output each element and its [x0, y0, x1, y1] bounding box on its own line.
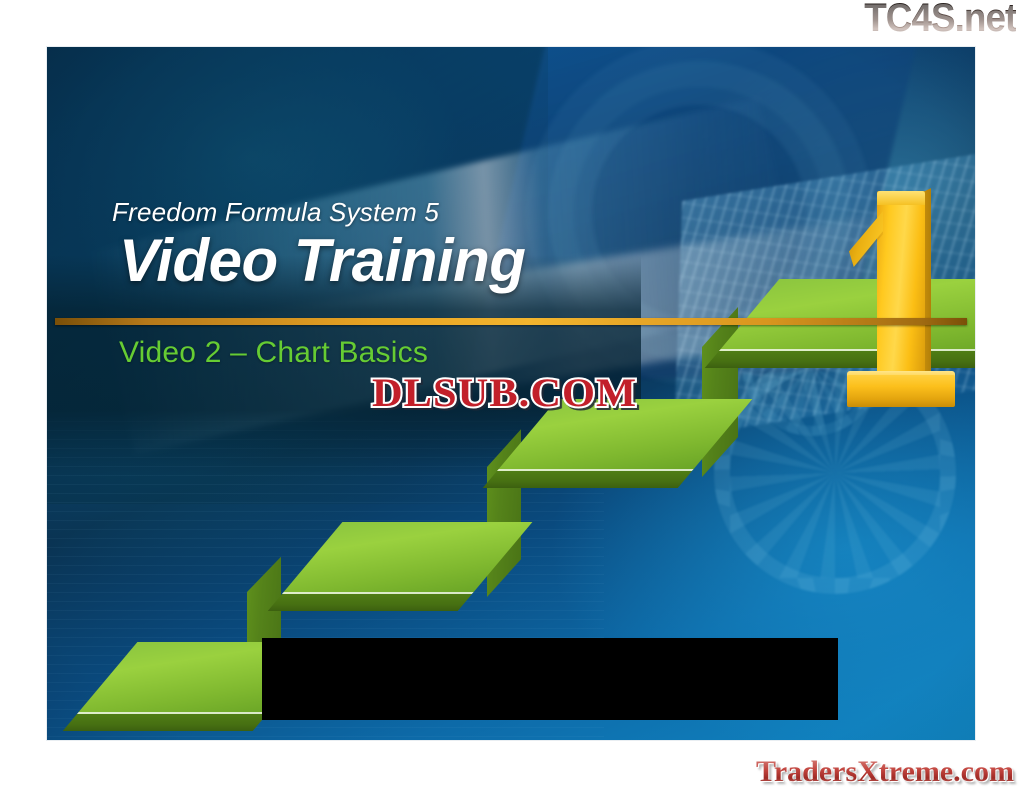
tradersxtreme-brand-watermark: TradersXtreme.com — [756, 757, 1014, 787]
staircase-step-1 — [77, 642, 267, 714]
step-riser-3 — [702, 307, 738, 477]
numeral-one-stem — [877, 191, 925, 383]
step-1-riser-face — [63, 714, 267, 731]
step-riser-2 — [487, 429, 521, 597]
tc4s-brand-watermark: TC4S.net — [864, 0, 1016, 38]
redaction-bar — [262, 638, 838, 720]
numeral-one-base — [847, 375, 955, 407]
step-2-tread — [282, 522, 532, 594]
slide-eyebrow: Freedom Formula System 5 — [112, 197, 439, 228]
dlsub-watermark: DLSUB.COM — [372, 373, 637, 413]
slide-divider-rule — [55, 318, 967, 325]
presentation-slide: Freedom Formula System 5 Video Training … — [47, 47, 975, 740]
step-3-riser-face — [483, 471, 692, 488]
slide-title: Video Training — [119, 229, 525, 292]
numeral-one-graphic — [843, 191, 965, 413]
step-2-riser-face — [268, 594, 472, 611]
staircase-step-2 — [282, 522, 472, 594]
page-root: TC4S.net — [0, 0, 1024, 791]
numeral-one-stem-top — [877, 191, 925, 205]
slide-subtitle: Video 2 – Chart Basics — [119, 336, 428, 370]
